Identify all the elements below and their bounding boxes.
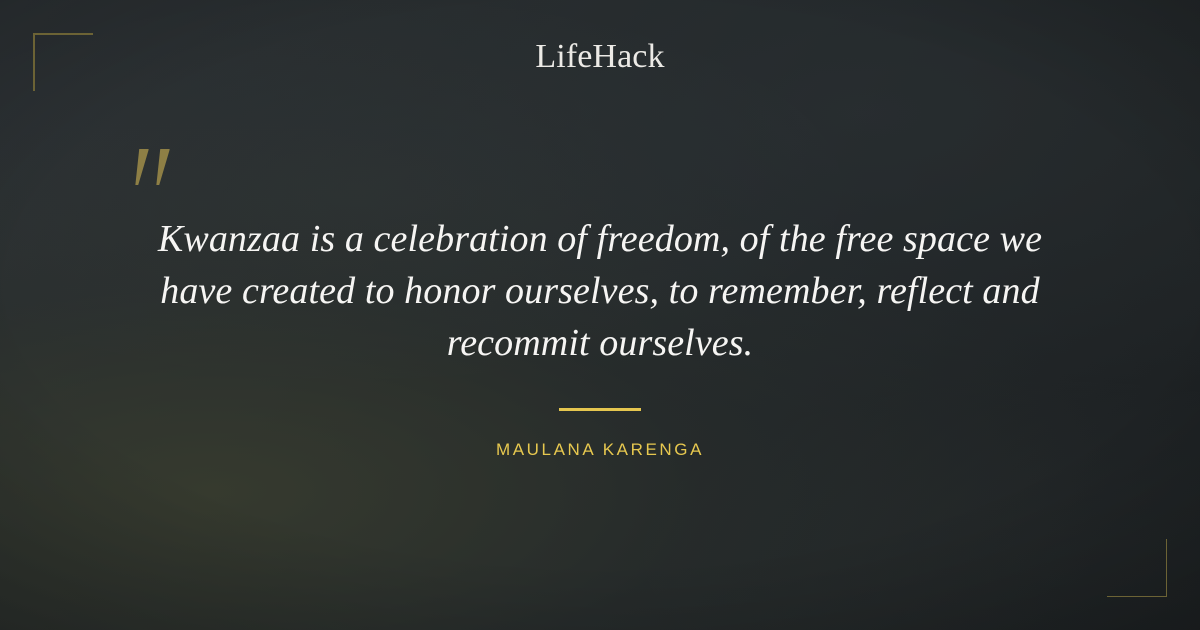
corner-bracket-bottom-line	[1107, 596, 1167, 598]
brand-logo[interactable]: LifeHack	[0, 40, 1200, 74]
quotation-mark-stroke-left	[130, 149, 149, 185]
quote-card: LifeHack Kwanzaa is a celebration of fre…	[0, 0, 1200, 630]
corner-bracket-top-line	[33, 33, 93, 35]
corner-bracket-bottom-right-icon	[1107, 539, 1167, 597]
gold-divider	[559, 408, 641, 411]
quote-line: Kwanzaa is a celebration of freedom, of …	[100, 213, 1100, 265]
quote-text: Kwanzaa is a celebration of freedom, of …	[100, 213, 1100, 369]
quote-line: have created to honor ourselves, to reme…	[100, 265, 1100, 317]
quote-line: recommit ourselves.	[100, 317, 1100, 369]
quotation-mark-icon	[133, 143, 179, 191]
corner-bracket-right-line	[1166, 539, 1168, 597]
quote-author: MAULANA KARENGA	[0, 440, 1200, 460]
quotation-mark-stroke-right	[151, 149, 170, 185]
